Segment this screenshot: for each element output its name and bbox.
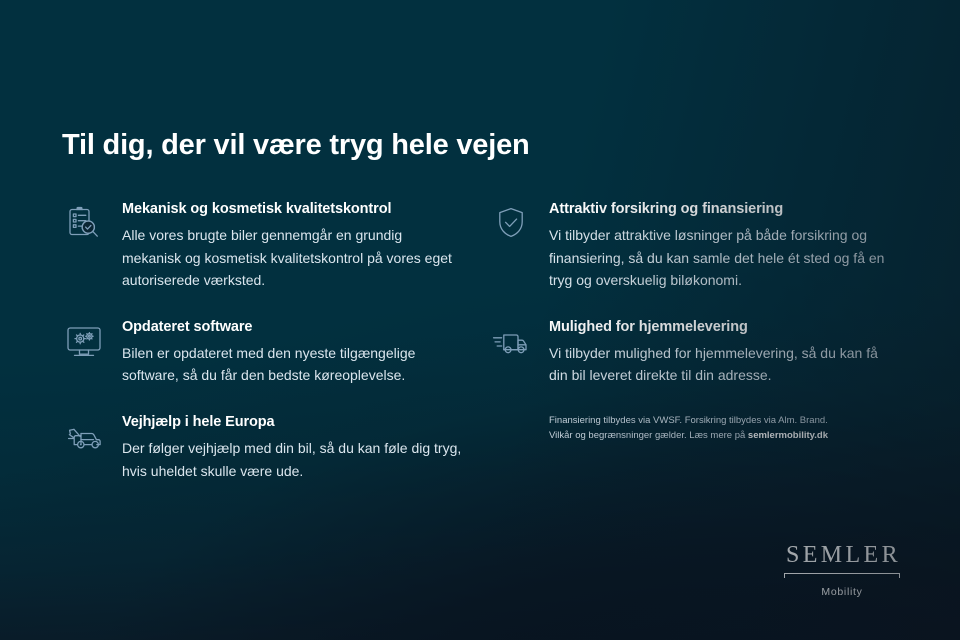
feature-title: Mulighed for hjemmelevering xyxy=(549,318,899,337)
feature-title: Mekanisk og kosmetisk kvalitetskontrol xyxy=(122,200,462,219)
feature-title: Opdateret software xyxy=(122,318,462,337)
delivery-truck-icon xyxy=(489,322,533,362)
logo-wordmark: SEMLER xyxy=(782,543,902,567)
clipboard-magnifier-check-icon xyxy=(62,204,106,244)
feature-item: Opdateret software Bilen er opdateret me… xyxy=(62,318,462,387)
left-column: Mekanisk og kosmetisk kvalitetskontrol A… xyxy=(62,200,462,508)
feature-body: Der følger vejhjælp med din bil, så du k… xyxy=(122,437,462,482)
tow-truck-icon xyxy=(62,417,106,457)
monitor-gears-icon xyxy=(62,322,106,362)
semler-mobility-logo: SEMLER Mobility xyxy=(782,543,902,598)
feature-title: Vejhjælp i hele Europa xyxy=(122,413,462,432)
feature-item: Vejhjælp i hele Europa Der følger vejhjæ… xyxy=(62,413,462,482)
logo-rule xyxy=(782,573,902,582)
fineprint-line-2-text: Vilkår og begrænsninger gælder. Læs mere… xyxy=(549,430,748,441)
feature-body: Vi tilbyder mulighed for hjemmelevering,… xyxy=(549,342,899,387)
slide-root: Til dig, der vil være tryg hele vejen xyxy=(0,0,960,640)
semlermobility-link[interactable]: semlermobility.dk xyxy=(748,430,828,441)
feature-body: Vi tilbyder attraktive løsninger på både… xyxy=(549,224,899,292)
feature-item: Attraktiv forsikring og finansiering Vi … xyxy=(489,200,899,292)
logo-subtitle: Mobility xyxy=(782,586,902,598)
feature-item: Mekanisk og kosmetisk kvalitetskontrol A… xyxy=(62,200,462,292)
page-title: Til dig, der vil være tryg hele vejen xyxy=(62,129,530,162)
fineprint-line-1: Finansiering tilbydes via VWSF. Forsikri… xyxy=(549,413,899,428)
feature-body: Alle vores brugte biler gennemgår en gru… xyxy=(122,224,462,292)
fineprint-disclaimer: Finansiering tilbydes via VWSF. Forsikri… xyxy=(489,413,899,444)
feature-body: Bilen er opdateret med den nyeste tilgæn… xyxy=(122,342,462,387)
feature-item: Mulighed for hjemmelevering Vi tilbyder … xyxy=(489,318,899,387)
fineprint-line-2: Vilkår og begrænsninger gælder. Læs mere… xyxy=(549,428,899,443)
feature-title: Attraktiv forsikring og finansiering xyxy=(549,200,899,219)
shield-check-icon xyxy=(489,204,533,244)
right-column: Attraktiv forsikring og finansiering Vi … xyxy=(489,200,899,444)
